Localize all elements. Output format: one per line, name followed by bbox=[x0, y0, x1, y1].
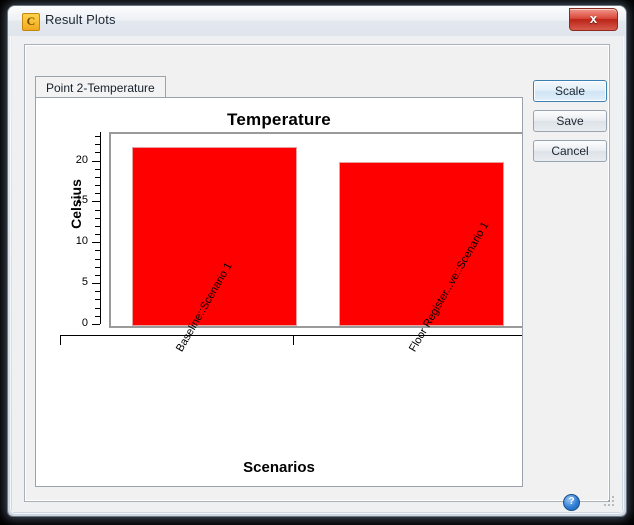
app-logo-icon: C bbox=[22, 13, 40, 31]
client-area: Point 2-Temperature Temperature Celsius … bbox=[12, 36, 622, 512]
grip-dot bbox=[604, 504, 606, 506]
cancel-button[interactable]: Cancel bbox=[533, 140, 607, 162]
y-tick-major bbox=[92, 161, 100, 162]
y-tick-minor bbox=[95, 275, 100, 276]
y-tick-label: 10 bbox=[62, 235, 88, 247]
y-tick-major bbox=[92, 324, 100, 325]
y-tick-minor bbox=[95, 291, 100, 292]
tab-point-2-temperature[interactable]: Point 2-Temperature bbox=[35, 76, 166, 98]
y-tick-minor bbox=[95, 169, 100, 170]
y-tick-major bbox=[92, 283, 100, 284]
y-tick-minor bbox=[95, 316, 100, 317]
resize-grip[interactable] bbox=[604, 496, 616, 508]
help-icon[interactable]: ? bbox=[563, 494, 580, 511]
y-tick-minor bbox=[95, 177, 100, 178]
y-tick-minor bbox=[95, 299, 100, 300]
y-tick-label: 15 bbox=[62, 194, 88, 206]
y-tick-major bbox=[92, 201, 100, 202]
chart-panel: Temperature Celsius 05101520 Baseline::S… bbox=[35, 97, 523, 487]
y-tick-minor bbox=[95, 250, 100, 251]
y-tick-minor bbox=[95, 136, 100, 137]
y-tick-minor bbox=[95, 144, 100, 145]
y-tick-minor bbox=[95, 308, 100, 309]
x-axis-label: Scenarios bbox=[36, 459, 522, 476]
y-tick-minor bbox=[95, 218, 100, 219]
y-tick-label: 0 bbox=[62, 317, 88, 329]
x-tick bbox=[293, 335, 294, 345]
scale-button[interactable]: Scale bbox=[533, 80, 607, 102]
x-axis-ruler bbox=[60, 335, 523, 345]
y-tick-minor bbox=[95, 259, 100, 260]
dialog-window: C Result Plots x Point 2-Temperature Tem… bbox=[8, 6, 626, 516]
x-axis-line bbox=[60, 335, 523, 336]
y-tick-label: 20 bbox=[62, 154, 88, 166]
y-tick-minor bbox=[95, 152, 100, 153]
help-glyph: ? bbox=[564, 495, 579, 508]
grip-dot bbox=[608, 500, 610, 502]
y-tick-label: 5 bbox=[62, 276, 88, 288]
y-tick-minor bbox=[95, 226, 100, 227]
x-tick bbox=[60, 335, 61, 345]
close-icon: x bbox=[570, 11, 617, 26]
grip-dot bbox=[612, 500, 614, 502]
window-title: Result Plots bbox=[45, 12, 116, 27]
grip-dot bbox=[612, 504, 614, 506]
y-tick-minor bbox=[95, 267, 100, 268]
chart-title: Temperature bbox=[36, 110, 522, 130]
y-tick-minor bbox=[95, 210, 100, 211]
y-tick-minor bbox=[95, 193, 100, 194]
grip-dot bbox=[612, 496, 614, 498]
close-button[interactable]: x bbox=[569, 8, 618, 31]
y-tick-major bbox=[92, 242, 100, 243]
title-bar[interactable]: C Result Plots x bbox=[8, 6, 626, 36]
plot-area bbox=[109, 132, 523, 328]
save-button[interactable]: Save bbox=[533, 110, 607, 132]
y-axis-line bbox=[100, 132, 101, 324]
y-tick-minor bbox=[95, 185, 100, 186]
grip-dot bbox=[608, 504, 610, 506]
y-tick-minor bbox=[95, 234, 100, 235]
tab-strip: Point 2-Temperature bbox=[35, 76, 523, 98]
